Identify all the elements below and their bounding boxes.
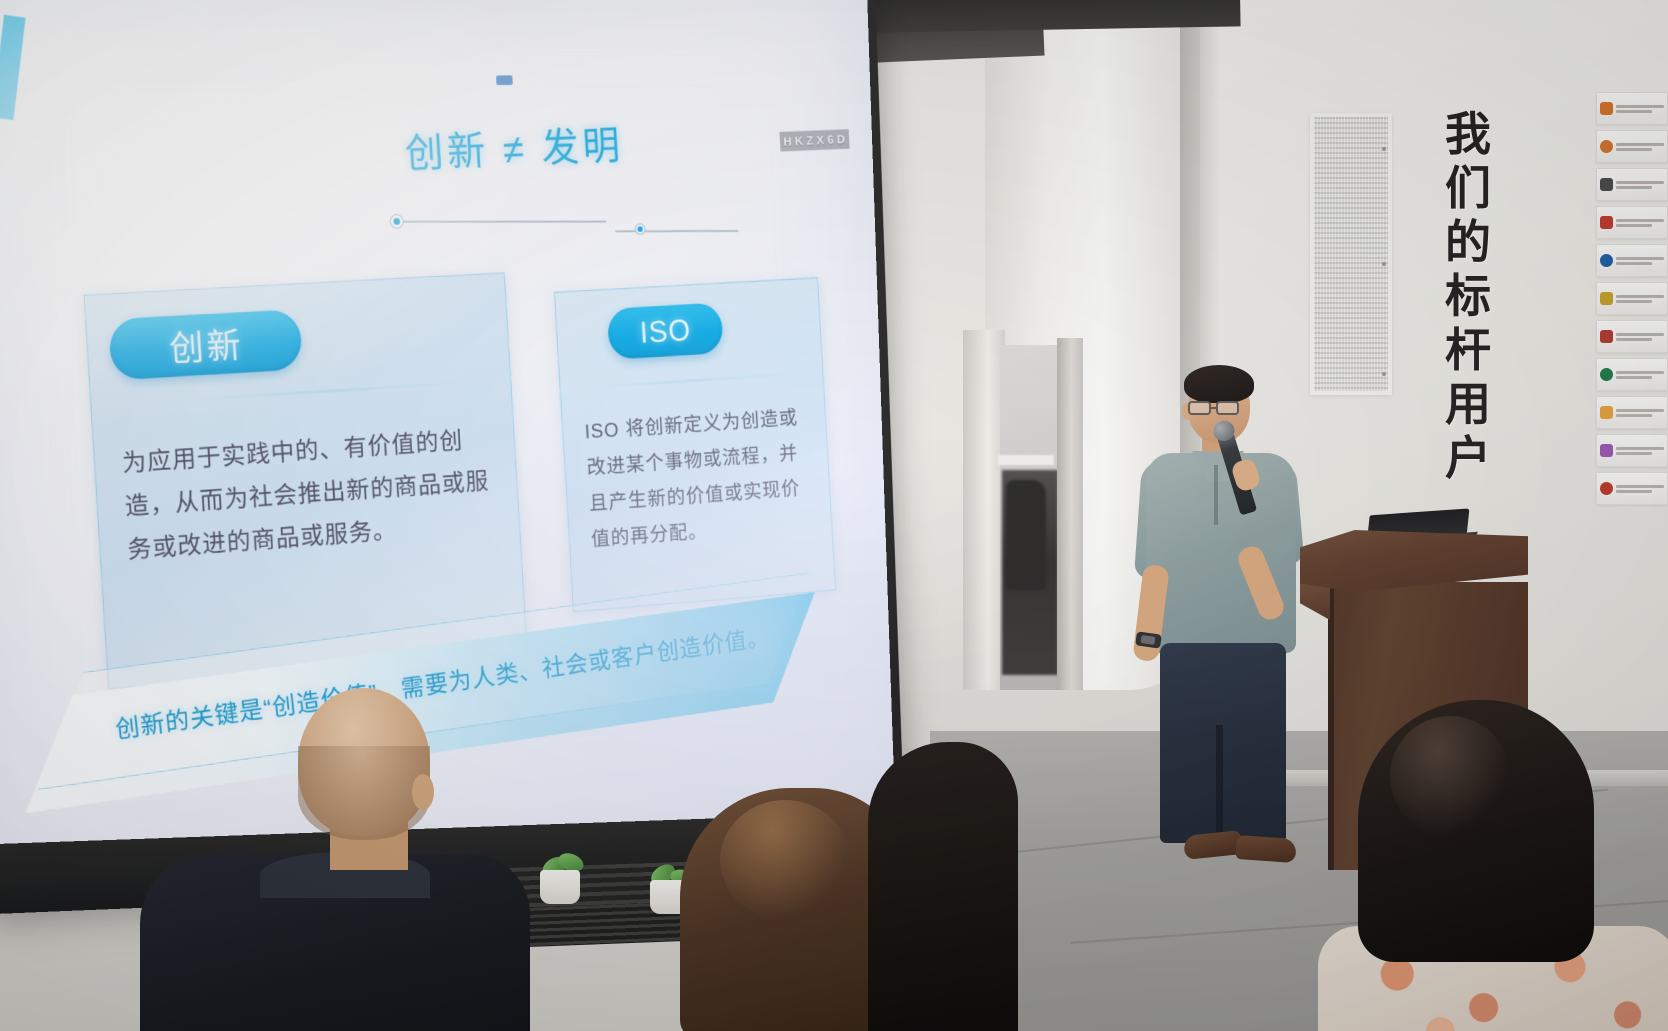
customer-logo-wordmark (1616, 143, 1664, 151)
customer-logo-plaque-list (1596, 92, 1668, 505)
presenter-shoe-right (1235, 835, 1297, 863)
customer-logo-plaque (1596, 472, 1668, 505)
presenter-shirt (1146, 453, 1296, 653)
customer-logo-mark-icon (1600, 444, 1613, 457)
customer-logo-plaque (1596, 206, 1668, 239)
audience-ear (412, 774, 434, 810)
customer-logo-wordmark (1616, 257, 1664, 265)
customer-logo-wordmark (1616, 409, 1664, 417)
customer-logo-mark-icon (1600, 292, 1613, 305)
concept-card-iso: ISO ISO 将创新定义为创造或改进某个事物或流程，并且产生新的价值或实现价值… (554, 277, 836, 612)
presenter-trousers (1160, 643, 1286, 843)
card-pill-iso: ISO (607, 302, 724, 359)
card-body-text: ISO 将创新定义为创造或改进某个事物或流程，并且产生新的价值或实现价值的再分配… (584, 400, 821, 559)
customer-logo-plaque (1596, 92, 1668, 125)
watermark-char: K (795, 134, 805, 148)
audience-member-right (1328, 700, 1668, 1031)
card-body-text: 为应用于实践中的、有价值的创造，从而为社会推出新的商品或服务或改进的商品或服务。 (121, 418, 502, 573)
customer-logo-wordmark (1616, 371, 1664, 379)
wall-slogan-char: 们 (1445, 162, 1491, 214)
card-pill-innovation: 创新 (108, 309, 303, 381)
customer-logo-plaque (1596, 130, 1668, 163)
wall-slogan-char: 用 (1445, 378, 1491, 430)
wall-slogan-char: 我 (1445, 108, 1491, 160)
customer-logo-mark-icon (1600, 482, 1613, 495)
customer-logo-plaque (1596, 244, 1668, 277)
customer-logo-mark-icon (1600, 406, 1613, 419)
wall-slogan-vertical: 我 们 的 标 杆 用 户 (1434, 108, 1502, 484)
customer-logo-plaque (1596, 396, 1668, 429)
title-rule-right (615, 230, 738, 232)
customer-logo-wordmark (1616, 219, 1664, 227)
customer-logo-wordmark (1616, 447, 1664, 455)
customer-logo-wordmark (1616, 333, 1664, 341)
audience-hair-highlight (720, 800, 850, 920)
wall-slogan-char: 杆 (1445, 324, 1491, 376)
audience-hair-highlight (1390, 716, 1510, 836)
audience-hair (298, 746, 430, 840)
presenter-hair (1184, 365, 1254, 403)
pill-underline (590, 373, 795, 389)
title-rule-left (398, 221, 606, 223)
customer-logo-wordmark (1616, 295, 1664, 303)
wall-slogan-char: 标 (1445, 270, 1491, 322)
customer-logo-plaque (1596, 168, 1668, 201)
slide-title: 创新 ≠ 发明 (403, 113, 625, 180)
door-jamb (1057, 338, 1083, 690)
customer-logo-wordmark (1616, 181, 1664, 189)
slide-watermark: HKZX6D (779, 129, 849, 151)
customer-logo-mark-icon (1600, 216, 1613, 229)
customer-logo-plaque (1596, 282, 1668, 315)
audience-hair-black (868, 742, 1018, 1031)
customer-logo-mark-icon (1600, 330, 1613, 343)
screen-ir-indicator (496, 75, 513, 85)
wall-slogan-char: 户 (1445, 432, 1491, 484)
watermark-char: D (837, 132, 847, 146)
office-shelf (998, 455, 1054, 465)
slide-corner-stripes-decor (0, 15, 78, 125)
customer-logo-plaque (1596, 358, 1668, 391)
customer-logo-wordmark (1616, 485, 1664, 493)
audience-member-bald-man (140, 688, 530, 1031)
air-vent-icon (1310, 113, 1392, 395)
pill-underline (188, 381, 467, 401)
glasses-icon (1188, 401, 1248, 415)
customer-logo-wordmark (1616, 105, 1664, 113)
watermark-char: Z (806, 133, 814, 147)
customer-logo-mark-icon (1600, 140, 1613, 153)
customer-logo-plaque (1596, 434, 1668, 467)
customer-logo-mark-icon (1600, 102, 1613, 115)
presenter-shirt-placket (1214, 465, 1218, 525)
doorway-glass (1000, 345, 1060, 690)
office-chair (1006, 480, 1046, 590)
title-dot-right (636, 224, 645, 234)
presentation-photo: 我 们 的 标 杆 用 户 创新 ≠ 发明 HKZX6D (0, 0, 1668, 1031)
presenter-figure (1130, 365, 1320, 875)
doorway-frame (963, 330, 1005, 690)
watermark-char: 6 (827, 133, 835, 147)
audience-member-center (660, 730, 980, 1031)
wall-slogan-char: 的 (1445, 216, 1491, 268)
watermark-char: X (816, 133, 825, 147)
customer-logo-plaque (1596, 320, 1668, 353)
customer-logo-mark-icon (1600, 178, 1613, 191)
watermark-char: H (783, 134, 793, 148)
customer-logo-mark-icon (1600, 368, 1613, 381)
customer-logo-mark-icon (1600, 254, 1613, 267)
title-dot-left (391, 215, 403, 228)
